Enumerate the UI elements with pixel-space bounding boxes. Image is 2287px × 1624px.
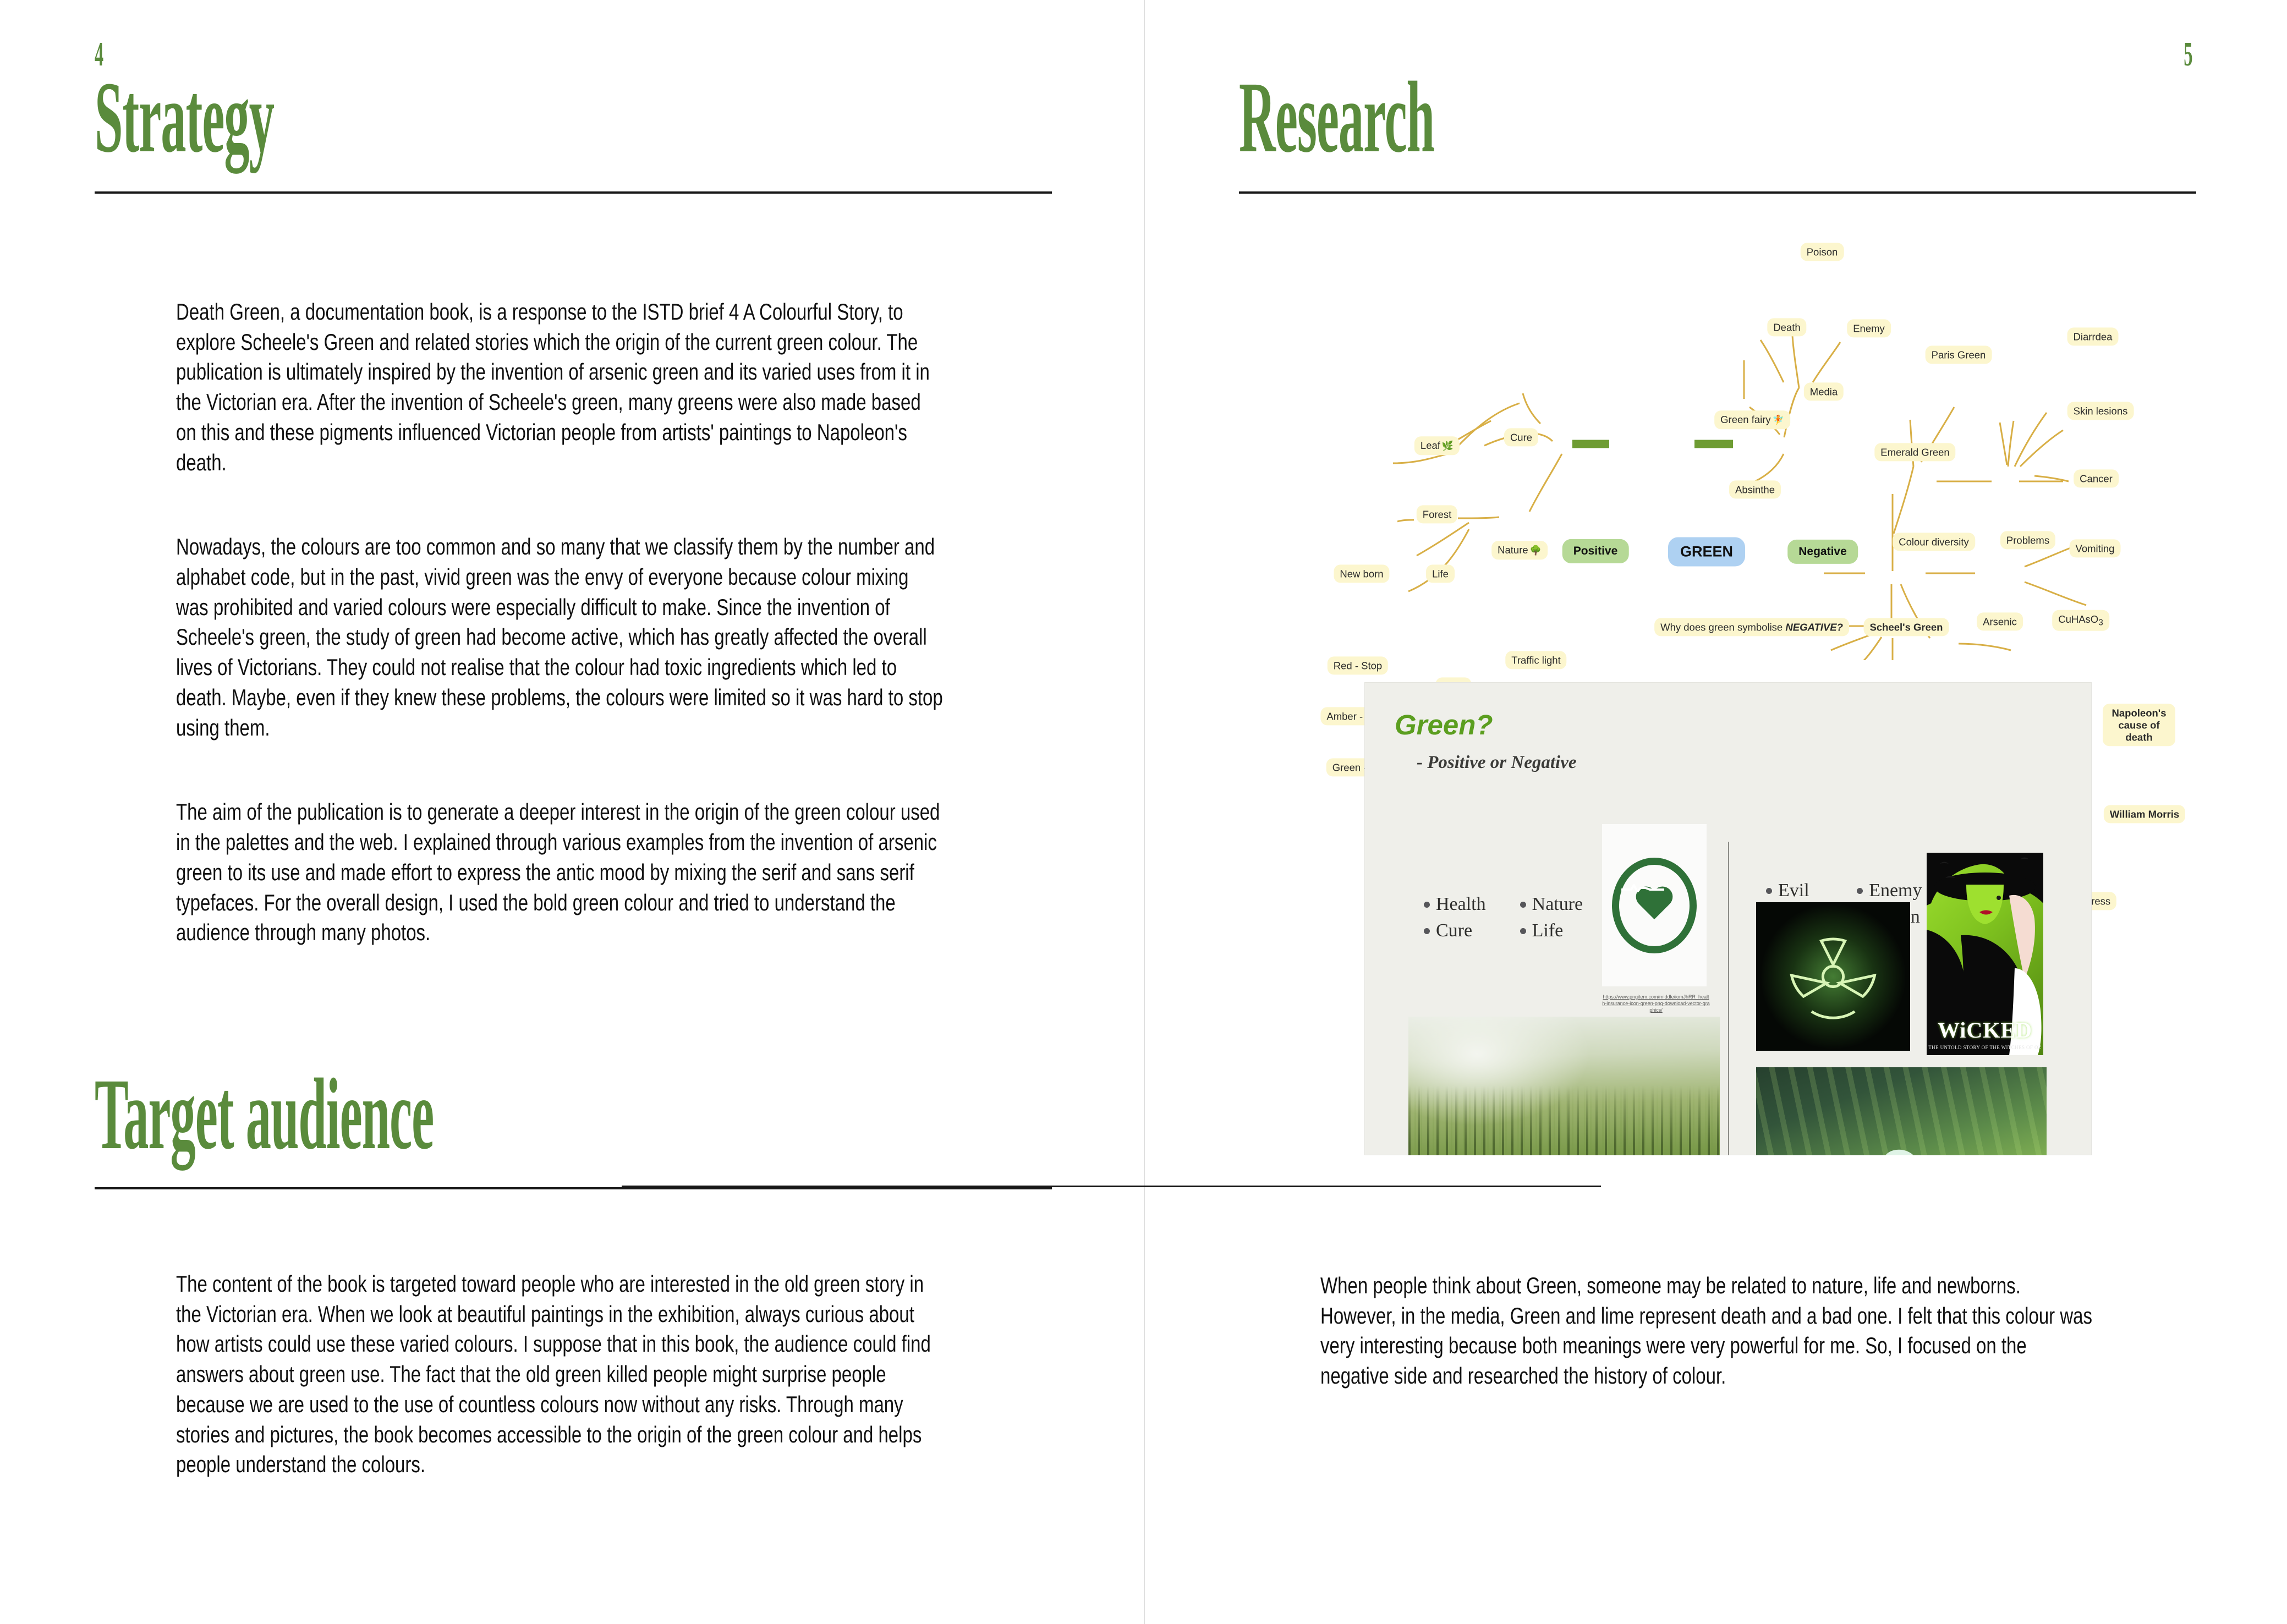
health-icon — [1612, 858, 1697, 953]
bullet-item: Evil — [1766, 880, 1823, 901]
heart-icon — [1634, 887, 1675, 924]
villain-figure — [1838, 1135, 1965, 1155]
mindmap-branch-negative: Negative — [1787, 540, 1858, 564]
fairy-icon: 🧚 — [1773, 415, 1784, 425]
bullet-item: Cure — [1424, 920, 1486, 941]
mindmap-node-skin-lesions: Skin lesions — [2067, 402, 2134, 420]
mindmap-node-william-morris: William Morris — [2104, 805, 2185, 823]
paragraph: Nowadays, the colours are too common and… — [176, 532, 946, 743]
mindmap-node-napoleon: Napoleon's cause of death — [2103, 704, 2175, 746]
mindmap-node-nature: Nature🌳 — [1491, 541, 1548, 559]
health-insurance-icon-image — [1602, 824, 1707, 986]
wicked-logo-text: WiCKED — [1927, 1017, 2043, 1043]
section-heading-research: Research — [1239, 72, 1434, 164]
moodboard-divider — [1728, 842, 1729, 1155]
mindmap-node-red-stop: Red - Stop — [1328, 656, 1388, 674]
wicked-poster-image: WiCKED THE UNTOLD STORY OF THE WITCHES O… — [1927, 853, 2043, 1055]
mindmap-node-problems: Problems — [2000, 531, 2055, 549]
paragraph: Death Green, a documentation book, is a … — [176, 297, 946, 478]
page-left: 4 Strategy Death Green, a documentation … — [0, 0, 1144, 1624]
heartbeat-line-icon — [1621, 884, 1664, 892]
mindmap-node-enemy: Enemy — [1847, 319, 1891, 337]
mindmap-node-arsenic: Arsenic — [1977, 612, 2023, 630]
page-number-right: 5 — [2184, 35, 2192, 74]
mindmap-node-center-green: GREEN — [1668, 537, 1745, 566]
paragraph: When people think about Green, someone m… — [1320, 1271, 2099, 1391]
paragraph: The content of the book is targeted towa… — [176, 1269, 946, 1480]
heading-rule-research — [1239, 191, 2196, 194]
paragraph: The aim of the publication is to generat… — [176, 797, 946, 948]
target-audience-body: The content of the book is targeted towa… — [176, 1239, 946, 1510]
positive-bullet-list: Health Nature Cure Life — [1424, 894, 1583, 941]
mindmap-node-forest: Forest — [1417, 505, 1457, 523]
mindmap-node-emerald-green: Emerald Green — [1874, 443, 1955, 461]
caption-health-source: https://www.pngitem.com/middle/iomJhRR_h… — [1602, 994, 1710, 1013]
bullet-item: Life — [1520, 920, 1583, 941]
bullet-item: Enemy — [1857, 880, 1922, 901]
mindmap-node-vomiting: Vomiting — [2070, 539, 2121, 557]
ursula-villain-image — [1756, 1067, 2047, 1155]
mindmap-node-poison: Poison — [1801, 243, 1844, 261]
mindmap-node-diarrdea: Diarrdea — [2067, 327, 2119, 345]
mindmap-node-leaf: Leaf🌿 — [1414, 436, 1460, 455]
bullet-item: Nature — [1520, 894, 1583, 915]
mindmap-node-formula: CuHAsO3 — [2052, 610, 2109, 631]
moodboard-title: Green? — [1395, 709, 1493, 741]
tree-icon: 🌳 — [1530, 545, 1542, 556]
mindmap-node-paris-green: Paris Green — [1926, 345, 1992, 364]
mindmap-node-scheels-green: Scheel's Green — [1864, 618, 1949, 636]
mindmap-diagram: Leaf🌿 Forest New born Life Nature🌳 Cure … — [1309, 204, 2146, 660]
mindmap-branch-positive: Positive — [1562, 539, 1629, 563]
mindmap-node-traffic-light: Traffic light — [1505, 651, 1566, 669]
section-heading-strategy: Strategy — [95, 72, 274, 164]
leaf-icon: 🌿 — [1442, 441, 1454, 451]
mindmap-node-new-born: New born — [1334, 564, 1389, 583]
mindmap-node-absinthe: Absinthe — [1729, 480, 1781, 498]
mindmap-node-green-fairy: Green fairy🧚 — [1714, 410, 1790, 429]
mindmap-node-death: Death — [1767, 318, 1806, 336]
radiation-symbol-photo — [1756, 902, 1910, 1051]
closing-rule-right — [622, 1186, 1601, 1187]
wicked-tagline: THE UNTOLD STORY OF THE WITCHES OF OZ — [1927, 1045, 2043, 1050]
mindmap-node-media: Media — [1804, 382, 1844, 400]
book-spread: 4 Strategy Death Green, a documentation … — [0, 0, 2287, 1624]
mindmap-node-colour-diversity: Colour diversity — [1893, 533, 1975, 551]
moodboard-slide: Green? - Positive or Negative Health Nat… — [1364, 682, 2092, 1155]
mindmap-node-cancer: Cancer — [2074, 469, 2119, 487]
bullet-item: Health — [1424, 894, 1486, 915]
radiation-icon — [1779, 923, 1887, 1030]
mindmap-node-why-negative: Why does green symbolise NEGATIVE? — [1654, 618, 1849, 636]
forest-photo — [1408, 1017, 1720, 1155]
moodboard-subtitle: - Positive or Negative — [1417, 753, 1577, 773]
heading-rule-strategy — [95, 191, 1052, 194]
mindmap-connectors — [1309, 204, 2146, 660]
heading-rule-target-audience — [95, 1187, 1052, 1189]
mindmap-node-life: Life — [1426, 564, 1455, 583]
strategy-body: Death Green, a documentation book, is a … — [176, 267, 946, 978]
research-closing-body: When people think about Green, someone m… — [1320, 1241, 2099, 1422]
section-heading-target-audience: Target audience — [95, 1068, 434, 1161]
mindmap-node-cure: Cure — [1504, 428, 1538, 446]
